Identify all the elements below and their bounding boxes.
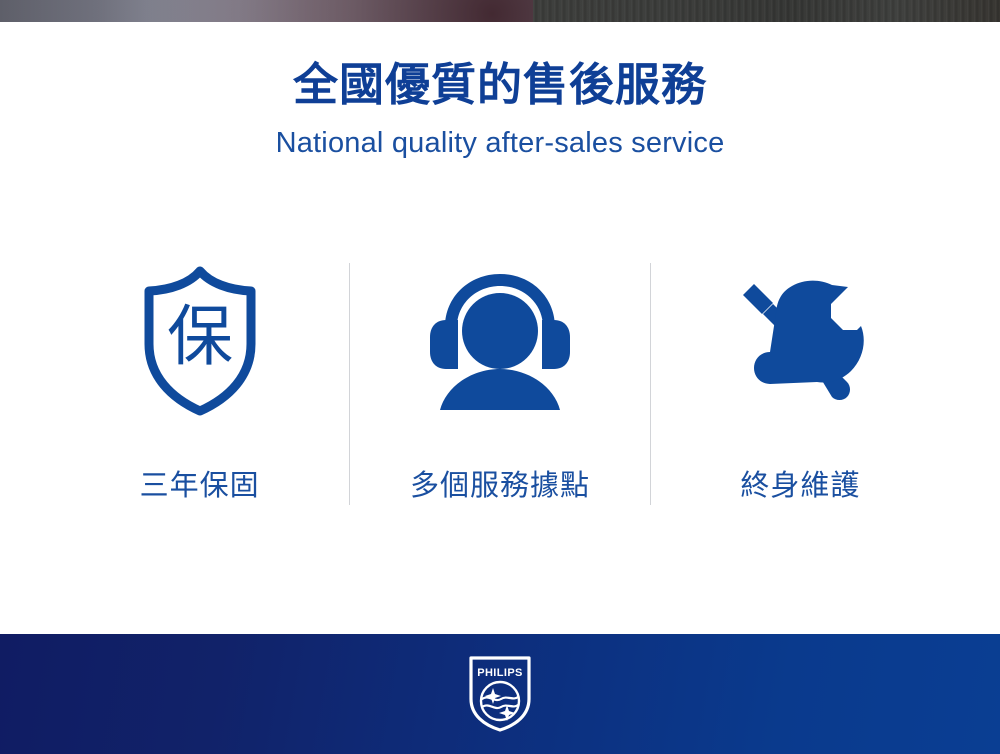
page-subtitle: National quality after-sales service — [0, 126, 1000, 161]
feature-item-warranty: 保 三年保固 — [50, 258, 349, 513]
philips-shield-logo: PHILIPS — [468, 655, 532, 733]
icon-slot-service-points — [424, 258, 576, 423]
page-title: 全國優質的售後服務 — [0, 60, 1000, 110]
shield-icon-glyph: 保 — [167, 298, 233, 375]
blurred-photo-left — [0, 0, 533, 22]
feature-columns: 保 三年保固 — [50, 258, 950, 513]
philips-wordmark: PHILIPS — [477, 667, 523, 679]
icon-slot-lifetime-maintenance — [730, 258, 870, 423]
top-photo-strip — [0, 0, 1000, 22]
feature-label-service-points: 多個服務據點 — [410, 471, 590, 500]
dark-wood-texture-right — [533, 0, 1000, 22]
feature-label-warranty: 三年保固 — [140, 471, 260, 500]
slide-root: 全國優質的售後服務 National quality after-sales s… — [0, 0, 1000, 754]
feature-item-lifetime-maintenance: 終身維護 — [651, 258, 950, 513]
heading-block: 全國優質的售後服務 National quality after-sales s… — [0, 60, 1000, 161]
shield-warranty-icon: 保 — [141, 266, 259, 416]
icon-slot-warranty: 保 — [141, 258, 259, 423]
feature-item-service-points: 多個服務據點 — [350, 258, 649, 513]
headset-support-agent-icon — [424, 268, 576, 414]
footer-bar: PHILIPS — [0, 634, 1000, 754]
wrench-screwdriver-tools-icon — [730, 271, 870, 411]
feature-label-lifetime-maintenance: 終身維護 — [740, 471, 860, 500]
